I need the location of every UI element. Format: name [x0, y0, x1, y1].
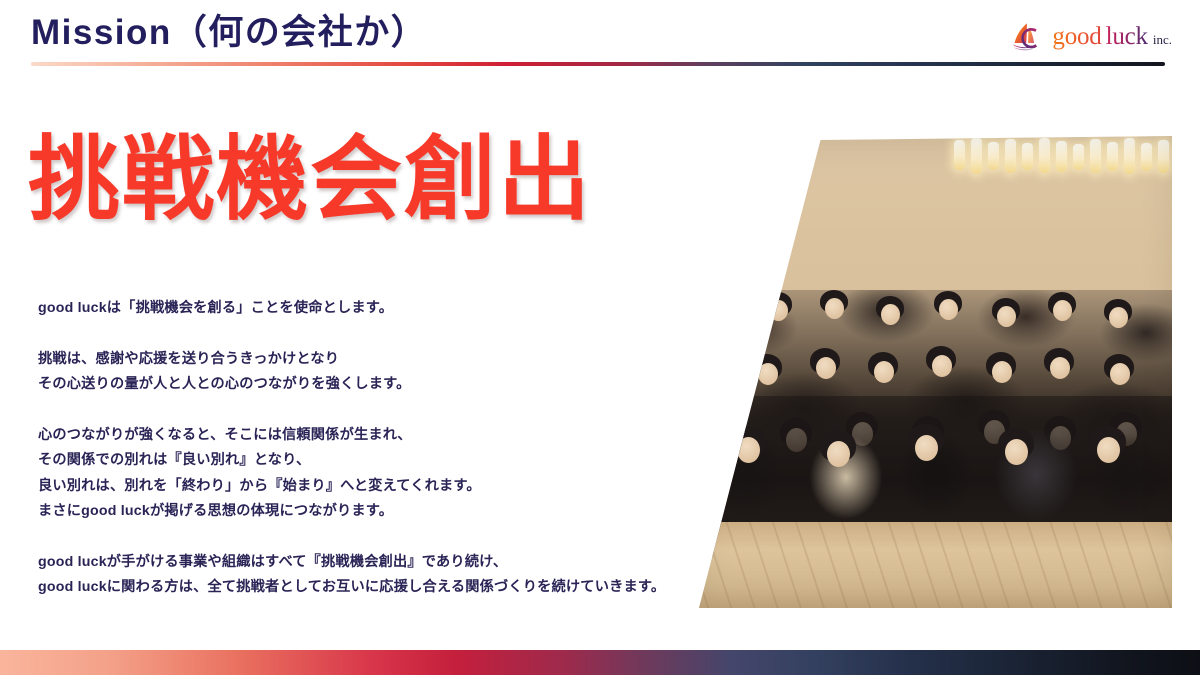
copy-line: その心送りの量が人と人との心のつながりを強くします。: [38, 372, 698, 398]
sailboat-logo-icon: [1009, 20, 1043, 54]
copy-line: good luckが手がける事業や組織はすべて『挑戦機会創出』であり続け、: [38, 550, 698, 576]
copy-line: まさにgood luckが掲げる思想の体現につながります。: [38, 499, 698, 525]
paragraph-3: 心のつながりが強くなると、そこには信頼関係が生まれ、 その関係での別れは『良い別…: [38, 423, 698, 525]
body-copy: good luckは「挑戦機会を創る」ことを使命とします。 挑戦は、感謝や応援を…: [38, 296, 698, 601]
slide-root: Mission（何の会社か）: [0, 0, 1200, 675]
brand-logo: good luck inc.: [1009, 18, 1172, 56]
slide-header: Mission（何の会社か）: [0, 0, 1200, 76]
copy-line: good luckに関わる方は、全て挑戦者としてお互いに応援し合える関係づくりを…: [38, 575, 698, 601]
logo-wordmark: good luck inc.: [1052, 23, 1172, 51]
paragraph-1: good luckは「挑戦機会を創る」ことを使命とします。: [38, 296, 698, 322]
header-divider: [31, 62, 1165, 66]
copy-line: good luckは「挑戦機会を創る」ことを使命とします。: [38, 296, 698, 322]
page-title: Mission（何の会社か）: [31, 12, 427, 54]
copy-line: 良い別れは、別れを「終わり」から『始まり』へと変えてくれます。: [38, 474, 698, 500]
logo-text-luck: luck: [1106, 23, 1148, 51]
copy-line: 心のつながりが強くなると、そこには信頼関係が生まれ、: [38, 423, 698, 449]
wall-seam: [750, 132, 752, 304]
headline-text: 挑戦機会創出: [28, 132, 592, 230]
company-group-photo: [680, 118, 1190, 618]
photo-clip: [680, 118, 1190, 618]
paragraph-2: 挑戦は、感謝や応援を送り合うきっかけとなり その心送りの量が人と人との心のつなが…: [38, 347, 698, 398]
ceiling-spot-light: [790, 136, 803, 142]
logo-text-inc: inc.: [1153, 32, 1172, 48]
photo-image: [686, 132, 1186, 614]
ceiling-spot-light: [732, 137, 745, 143]
photo-vignette: [686, 132, 1186, 614]
copy-line: 挑戦は、感謝や応援を送り合うきっかけとなり: [38, 347, 698, 373]
logo-text-good: good: [1052, 23, 1101, 51]
footer-gradient-bar: [0, 650, 1200, 675]
copy-line: その関係での別れは『良い別れ』となり、: [38, 448, 698, 474]
paragraph-4: good luckが手がける事業や組織はすべて『挑戦機会創出』であり続け、 go…: [38, 550, 698, 601]
